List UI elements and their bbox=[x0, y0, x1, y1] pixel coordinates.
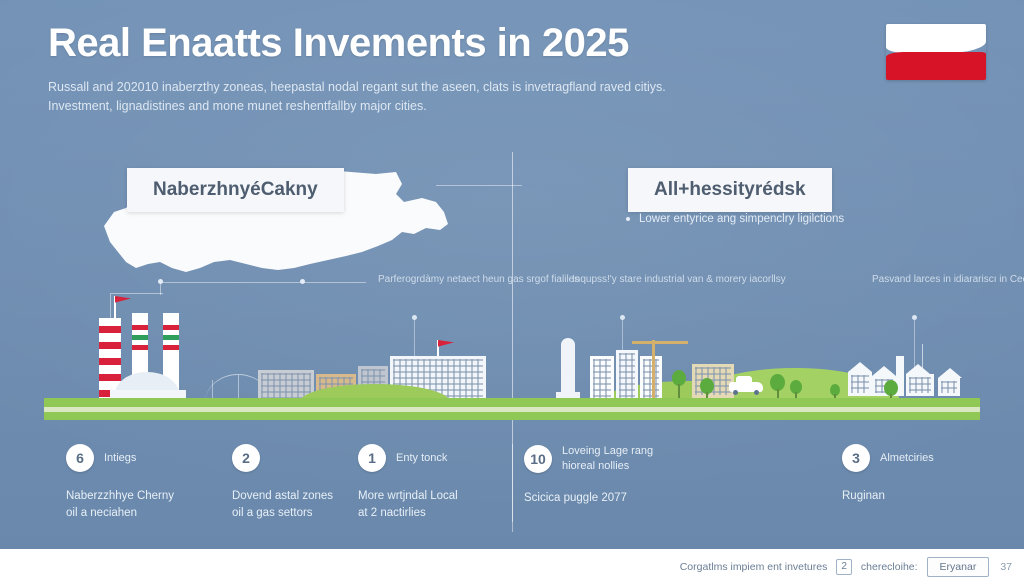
footer-chip-badge[interactable]: 2 bbox=[836, 559, 852, 575]
stat-label: Intiegs bbox=[104, 451, 136, 466]
house-icon bbox=[938, 378, 960, 396]
crane-jib bbox=[632, 341, 688, 344]
stack-band bbox=[99, 342, 121, 349]
stats-divider bbox=[512, 444, 513, 532]
right-region-chip[interactable]: All+hessityrédsk bbox=[628, 168, 832, 212]
infographic-canvas: Real Enaatts Invements in 2025 Russall a… bbox=[0, 0, 1024, 585]
stat-label: Enty tonck bbox=[396, 451, 447, 466]
apartment-block-icon bbox=[590, 356, 614, 402]
stack-band bbox=[132, 325, 148, 330]
stat-header: 3 Almetciries bbox=[842, 444, 934, 472]
footer-text: Corgatlms impiem ent invetures bbox=[680, 561, 828, 573]
flag-stripe-white bbox=[886, 24, 986, 53]
stat-label: Almetciries bbox=[880, 451, 934, 466]
poland-flag-icon bbox=[886, 24, 986, 80]
page-title: Real Enaatts Invements in 2025 bbox=[48, 22, 984, 64]
stack-band bbox=[163, 345, 179, 350]
red-pennant-icon bbox=[438, 340, 454, 351]
subtitle-line-2: Investment, lignadistines and mone munet… bbox=[48, 97, 808, 116]
connector-dot-icon bbox=[158, 279, 163, 284]
apartment-block-icon bbox=[640, 356, 662, 402]
leader-node-icon bbox=[412, 315, 417, 320]
leader-line-left bbox=[414, 318, 415, 356]
window-grid bbox=[851, 375, 869, 393]
construction-crane-icon bbox=[652, 340, 655, 402]
stat-item[interactable]: 3 Almetciries Ruginan bbox=[842, 444, 934, 505]
stat-description: More wrtjndal Local at 2 nactirlies bbox=[358, 488, 458, 521]
stat-item[interactable]: 6 Intiegs Naberzzhhye Cherny oil a necia… bbox=[66, 444, 174, 521]
status-badge: 2 bbox=[232, 444, 260, 472]
stat-item[interactable]: 1 Enty tonck More wrtjndal Local at 2 na… bbox=[358, 444, 458, 521]
window-grid bbox=[643, 359, 659, 399]
window-grid bbox=[619, 353, 635, 399]
stat-label: Loveing Lage rang hioreal nollies bbox=[562, 444, 653, 474]
stat-header: 10 Loveing Lage rang hioreal nollies bbox=[524, 444, 653, 474]
connector-line-2 bbox=[160, 282, 366, 295]
car-cabin bbox=[736, 376, 752, 383]
stat-description: Dovend astal zones oil a gas settors bbox=[232, 488, 333, 521]
stat-header: 1 Enty tonck bbox=[358, 444, 458, 472]
road-line bbox=[44, 407, 980, 412]
leader-node-icon bbox=[912, 315, 917, 320]
stat-item[interactable]: 2 Dovend astal zones oil a gas settors bbox=[232, 444, 333, 521]
stack-band bbox=[132, 335, 148, 340]
house-icon bbox=[906, 374, 934, 396]
window-grid bbox=[941, 381, 957, 393]
connector-line-3 bbox=[436, 185, 522, 187]
stat-description: Naberzzhhye Cherny oil a neciahen bbox=[66, 488, 174, 521]
stack-band bbox=[132, 345, 148, 350]
header: Real Enaatts Invements in 2025 Russall a… bbox=[48, 22, 984, 117]
status-badge: 3 bbox=[842, 444, 870, 472]
footer-text-secondary: cherecloihe: bbox=[861, 561, 918, 573]
ground-strip bbox=[44, 398, 980, 420]
callout-right: Pasvand larces in idiarariscı in Cee gpl… bbox=[872, 272, 1024, 287]
stack-band bbox=[163, 325, 179, 330]
stat-header: 6 Intiegs bbox=[66, 444, 174, 472]
house-roof-icon bbox=[848, 362, 872, 372]
house-roof-icon bbox=[872, 366, 896, 376]
apartment-block-icon bbox=[616, 350, 638, 402]
house-roof-icon bbox=[938, 368, 962, 378]
stack-band bbox=[99, 374, 121, 381]
footer-action-button[interactable]: Eryanar bbox=[927, 557, 990, 577]
bullet-dot-icon bbox=[626, 217, 630, 221]
flag-stripe-red bbox=[886, 52, 986, 80]
stack-band bbox=[99, 326, 121, 333]
page-subtitle: Russall and 202010 inaberzthy zoneas, he… bbox=[48, 78, 808, 117]
stack-band bbox=[163, 335, 179, 340]
status-badge: 10 bbox=[524, 445, 552, 473]
footer-bar: Corgatlms impiem ent invetures 2 cherecl… bbox=[0, 549, 1024, 585]
status-badge: 1 bbox=[358, 444, 386, 472]
callout-mid: Inqupss!'y stare industrial van & morery… bbox=[572, 272, 786, 287]
car-wheel bbox=[733, 390, 738, 395]
footer-page-number: 37 bbox=[998, 561, 1012, 573]
window-grid bbox=[593, 359, 611, 399]
right-bullet-text: Lower entyrice ang simpenclry ligilction… bbox=[639, 213, 844, 225]
stat-description: Scicica puggle 2077 bbox=[524, 490, 653, 507]
right-region-bullet: Lower entyrice ang simpenclry ligilction… bbox=[626, 213, 844, 225]
left-region-chip[interactable]: NaberzhnyéCakny bbox=[127, 168, 344, 212]
house-roof-icon bbox=[906, 364, 930, 374]
subtitle-line-1: Russall and 202010 inaberzthy zoneas, he… bbox=[48, 78, 808, 97]
stat-header: 2 bbox=[232, 444, 333, 472]
car-wheel bbox=[754, 390, 759, 395]
window-grid bbox=[909, 377, 931, 393]
stat-item[interactable]: 10 Loveing Lage rang hioreal nollies Sci… bbox=[524, 444, 653, 506]
stat-description: Ruginan bbox=[842, 488, 934, 505]
stack-band bbox=[99, 358, 121, 365]
house-icon bbox=[848, 372, 872, 396]
callout-left: Parferogrdàmy netaect heun gas srgof fia… bbox=[378, 272, 579, 287]
status-badge: 6 bbox=[66, 444, 94, 472]
leader-node-icon bbox=[620, 315, 625, 320]
connector-dot-icon bbox=[300, 279, 305, 284]
